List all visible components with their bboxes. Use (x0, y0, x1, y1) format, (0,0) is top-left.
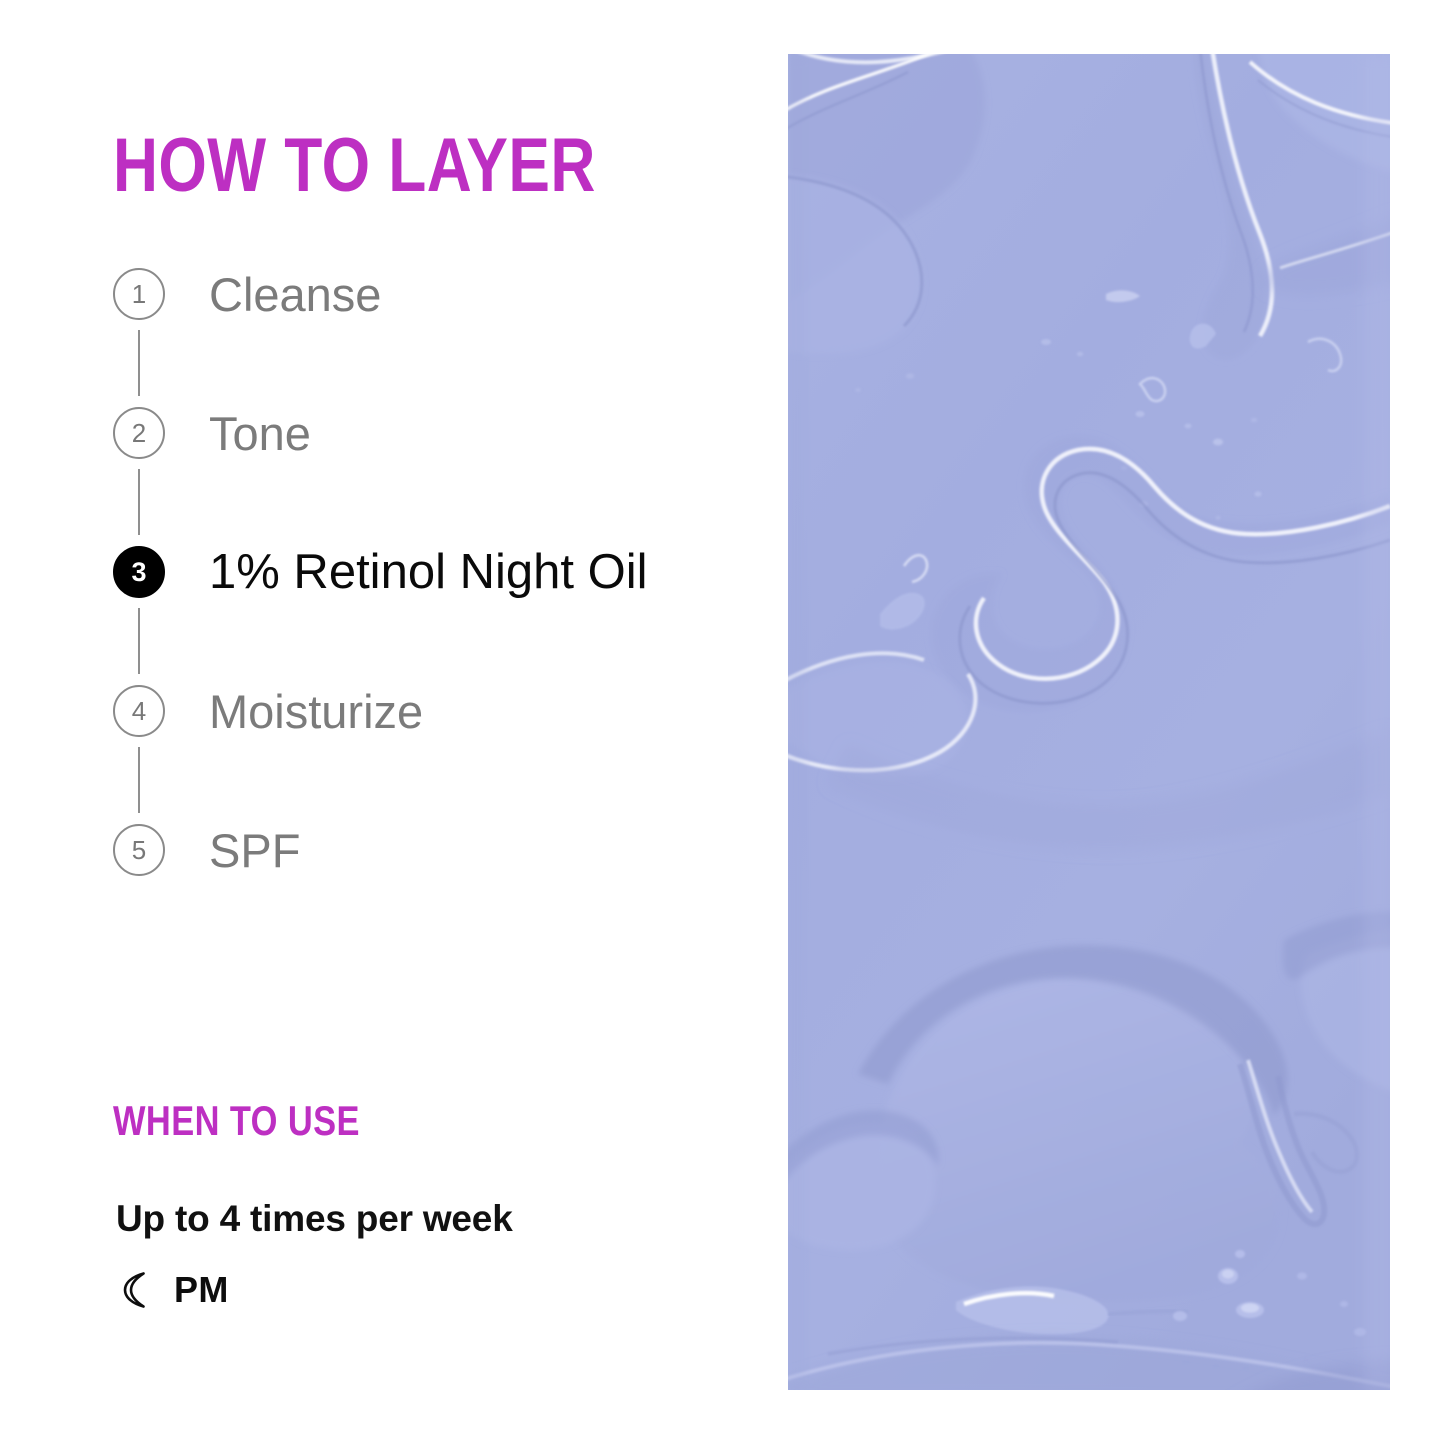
step-label-retinol-night-oil: 1% Retinol Night Oil (209, 546, 647, 598)
step-marker-1: 1 (113, 268, 165, 320)
step-connector-3-4 (138, 608, 140, 674)
list-item: 5 SPF (113, 824, 733, 900)
gel-texture-swatch (788, 54, 1390, 1390)
content-column: HOW TO LAYER 1 Cleanse 2 Tone 3 1% Retin… (0, 0, 788, 1445)
list-item: 1 Cleanse (113, 268, 733, 407)
usage-time-row: PM (112, 1268, 229, 1312)
crescent-moon-icon (112, 1268, 156, 1312)
step-marker-5: 5 (113, 824, 165, 876)
step-label-tone: Tone (209, 407, 311, 459)
step-connector-2-3 (138, 469, 140, 535)
step-marker-4: 4 (113, 685, 165, 737)
step-label-cleanse: Cleanse (209, 268, 381, 320)
infographic-canvas: HOW TO LAYER 1 Cleanse 2 Tone 3 1% Retin… (0, 0, 1445, 1445)
usage-time-label: PM (174, 1268, 229, 1312)
list-item-active: 3 1% Retinol Night Oil (113, 546, 733, 685)
how-to-layer-heading: HOW TO LAYER (113, 126, 596, 206)
step-marker-2: 2 (113, 407, 165, 459)
list-item: 2 Tone (113, 407, 733, 546)
step-connector-4-5 (138, 747, 140, 813)
list-item: 4 Moisturize (113, 685, 733, 824)
gel-texture-illustration (788, 54, 1390, 1390)
step-label-moisturize: Moisturize (209, 685, 423, 737)
usage-frequency-text: Up to 4 times per week (116, 1198, 513, 1240)
step-marker-3: 3 (113, 546, 165, 598)
step-connector-1-2 (138, 330, 140, 396)
step-label-spf: SPF (209, 824, 300, 876)
when-to-use-heading: WHEN TO USE (113, 1098, 360, 1144)
routine-step-list: 1 Cleanse 2 Tone 3 1% Retinol Night Oil … (113, 268, 733, 900)
